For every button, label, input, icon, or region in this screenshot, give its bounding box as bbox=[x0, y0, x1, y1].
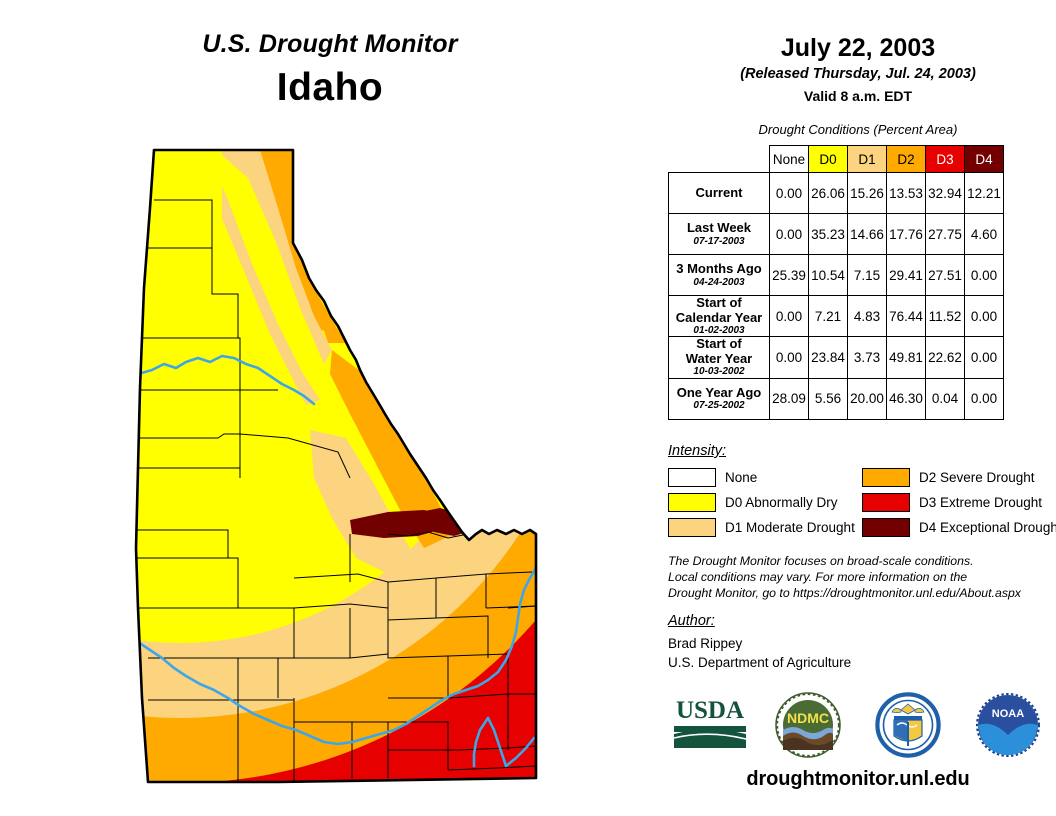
table-row: Current 0.00 26.06 15.26 13.53 32.94 12.… bbox=[669, 173, 1004, 214]
usda-logo[interactable]: USDA bbox=[670, 692, 750, 754]
legend-row: D1 Moderate Drought D4 Exceptional Droug… bbox=[668, 516, 1056, 538]
cell-none: 25.39 bbox=[770, 255, 809, 296]
map-panel: U.S. Drought Monitor Idaho bbox=[0, 0, 660, 816]
disclaimer-text: The Drought Monitor focuses on broad-sca… bbox=[668, 553, 1056, 602]
cell-d2: 29.41 bbox=[887, 255, 926, 296]
cell-d1: 7.15 bbox=[848, 255, 887, 296]
report-released: (Released Thursday, Jul. 24, 2003) bbox=[660, 66, 1056, 82]
table-caption: Drought Conditions (Percent Area) bbox=[660, 122, 1056, 137]
cell-none: 0.00 bbox=[770, 214, 809, 255]
commerce-seal-logo[interactable] bbox=[875, 692, 941, 758]
legend-item-d1: D1 Moderate Drought bbox=[668, 518, 862, 537]
swatch-d3-icon bbox=[862, 493, 910, 512]
cell-d3: 11.52 bbox=[926, 296, 965, 337]
row-label-text: Start of Calendar Year bbox=[669, 296, 769, 325]
swatch-d4-icon bbox=[862, 518, 910, 537]
column-header-d1: D1 bbox=[848, 146, 887, 173]
cell-d4: 0.00 bbox=[965, 337, 1004, 378]
table-row: Start of Water Year 10-03-2002 0.00 23.8… bbox=[669, 337, 1004, 378]
table-header-row: None D0 D1 D2 D3 D4 bbox=[669, 146, 1004, 173]
row-label-text: Current bbox=[669, 186, 769, 201]
legend-label-none: None bbox=[725, 470, 757, 485]
row-label-text: One Year Ago bbox=[669, 386, 769, 401]
column-header-d4: D4 bbox=[965, 146, 1004, 173]
row-label-text: Last Week bbox=[669, 221, 769, 236]
intensity-heading: Intensity: bbox=[668, 443, 726, 459]
agency-logos: USDA NDMC bbox=[660, 692, 1056, 762]
cell-d0: 35.23 bbox=[809, 214, 848, 255]
table-row: One Year Ago 07-25-2002 28.09 5.56 20.00… bbox=[669, 378, 1004, 419]
table-body: Current 0.00 26.06 15.26 13.53 32.94 12.… bbox=[669, 173, 1004, 420]
cell-d2: 17.76 bbox=[887, 214, 926, 255]
legend-label-d1: D1 Moderate Drought bbox=[725, 520, 855, 535]
column-header-d3: D3 bbox=[926, 146, 965, 173]
cell-d4: 0.00 bbox=[965, 255, 1004, 296]
intensity-legend: None D2 Severe Drought D0 Abnormally Dry… bbox=[668, 466, 1056, 541]
cell-d1: 20.00 bbox=[848, 378, 887, 419]
disclaimer-line-3[interactable]: Drought Monitor, go to https://droughtmo… bbox=[668, 585, 1056, 601]
cell-d2: 49.81 bbox=[887, 337, 926, 378]
website-url[interactable]: droughtmonitor.unl.edu bbox=[660, 768, 1056, 791]
table-corner-cell bbox=[669, 146, 770, 173]
legend-item-d4: D4 Exceptional Drought bbox=[862, 518, 1056, 537]
row-label-start-calendar-year: Start of Calendar Year 01-02-2003 bbox=[669, 296, 770, 337]
swatch-d2-icon bbox=[862, 468, 910, 487]
report-valid: Valid 8 a.m. EDT bbox=[660, 88, 1056, 104]
cell-d1: 15.26 bbox=[848, 173, 887, 214]
row-label-date: 01-02-2003 bbox=[669, 325, 769, 336]
row-label-date: 07-25-2002 bbox=[669, 400, 769, 411]
cell-d0: 26.06 bbox=[809, 173, 848, 214]
legend-label-d4: D4 Exceptional Drought bbox=[919, 520, 1056, 535]
ndmc-logo[interactable]: NDMC bbox=[775, 692, 841, 758]
usda-logo-text: USDA bbox=[676, 697, 744, 724]
cell-d3: 27.51 bbox=[926, 255, 965, 296]
legend-item-none: None bbox=[668, 468, 862, 487]
row-label-last-week: Last Week 07-17-2003 bbox=[669, 214, 770, 255]
cell-d3: 0.04 bbox=[926, 378, 965, 419]
cell-d3: 22.62 bbox=[926, 337, 965, 378]
cell-d0: 7.21 bbox=[809, 296, 848, 337]
row-label-one-year-ago: One Year Ago 07-25-2002 bbox=[669, 378, 770, 419]
cell-d4: 0.00 bbox=[965, 378, 1004, 419]
cell-none: 0.00 bbox=[770, 296, 809, 337]
disclaimer-line-1: The Drought Monitor focuses on broad-sca… bbox=[668, 553, 1056, 569]
column-header-d0: D0 bbox=[809, 146, 848, 173]
table-row: Start of Calendar Year 01-02-2003 0.00 7… bbox=[669, 296, 1004, 337]
row-label-start-water-year: Start of Water Year 10-03-2002 bbox=[669, 337, 770, 378]
cell-d3: 27.75 bbox=[926, 214, 965, 255]
column-header-d2: D2 bbox=[887, 146, 926, 173]
row-label-text: 3 Months Ago bbox=[669, 262, 769, 277]
table-row: 3 Months Ago 04-24-2003 25.39 10.54 7.15… bbox=[669, 255, 1004, 296]
column-header-none: None bbox=[770, 146, 809, 173]
author-heading: Author: bbox=[668, 613, 715, 629]
cell-none: 28.09 bbox=[770, 378, 809, 419]
cell-d2: 13.53 bbox=[887, 173, 926, 214]
legend-row: None D2 Severe Drought bbox=[668, 466, 1056, 488]
cell-d2: 76.44 bbox=[887, 296, 926, 337]
cell-d1: 4.83 bbox=[848, 296, 887, 337]
legend-label-d3: D3 Extreme Drought bbox=[919, 495, 1042, 510]
info-panel: July 22, 2003 (Released Thursday, Jul. 2… bbox=[660, 0, 1056, 816]
cell-d4: 4.60 bbox=[965, 214, 1004, 255]
row-label-text: Start of Water Year bbox=[669, 337, 769, 366]
row-label-current: Current bbox=[669, 173, 770, 214]
legend-label-d0: D0 Abnormally Dry bbox=[725, 495, 838, 510]
cell-d3: 32.94 bbox=[926, 173, 965, 214]
row-label-date: 10-03-2002 bbox=[669, 366, 769, 377]
drought-conditions-table: None D0 D1 D2 D3 D4 Current 0.00 26.06 1… bbox=[668, 145, 1004, 420]
legend-label-d2: D2 Severe Drought bbox=[919, 470, 1035, 485]
cell-d1: 14.66 bbox=[848, 214, 887, 255]
cell-none: 0.00 bbox=[770, 173, 809, 214]
noaa-logo[interactable]: NOAA bbox=[975, 692, 1041, 758]
cell-d4: 0.00 bbox=[965, 296, 1004, 337]
author-org: U.S. Department of Agriculture bbox=[668, 653, 851, 672]
cell-none: 0.00 bbox=[770, 337, 809, 378]
idaho-drought-map[interactable] bbox=[88, 138, 588, 798]
cell-d4: 12.21 bbox=[965, 173, 1004, 214]
row-label-date: 04-24-2003 bbox=[669, 277, 769, 288]
ndmc-logo-text: NDMC bbox=[787, 710, 829, 726]
cell-d0: 10.54 bbox=[809, 255, 848, 296]
legend-item-d0: D0 Abnormally Dry bbox=[668, 493, 862, 512]
state-title: Idaho bbox=[0, 66, 660, 110]
cell-d0: 5.56 bbox=[809, 378, 848, 419]
cell-d0: 23.84 bbox=[809, 337, 848, 378]
cell-d2: 46.30 bbox=[887, 378, 926, 419]
swatch-d1-icon bbox=[668, 518, 716, 537]
legend-item-d3: D3 Extreme Drought bbox=[862, 493, 1056, 512]
cell-d1: 3.73 bbox=[848, 337, 887, 378]
swatch-none-icon bbox=[668, 468, 716, 487]
legend-row: D0 Abnormally Dry D3 Extreme Drought bbox=[668, 491, 1056, 513]
legend-item-d2: D2 Severe Drought bbox=[862, 468, 1056, 487]
disclaimer-line-2: Local conditions may vary. For more info… bbox=[668, 569, 1056, 585]
author-name: Brad Rippey bbox=[668, 634, 851, 653]
author-block: Brad Rippey U.S. Department of Agricultu… bbox=[668, 634, 851, 672]
row-label-date: 07-17-2003 bbox=[669, 236, 769, 247]
swatch-d0-icon bbox=[668, 493, 716, 512]
program-title: U.S. Drought Monitor bbox=[0, 30, 660, 59]
drought-monitor-page: U.S. Drought Monitor Idaho bbox=[0, 0, 1056, 816]
row-label-3-months-ago: 3 Months Ago 04-24-2003 bbox=[669, 255, 770, 296]
report-date: July 22, 2003 bbox=[660, 34, 1056, 63]
noaa-logo-text: NOAA bbox=[992, 708, 1024, 720]
table-row: Last Week 07-17-2003 0.00 35.23 14.66 17… bbox=[669, 214, 1004, 255]
